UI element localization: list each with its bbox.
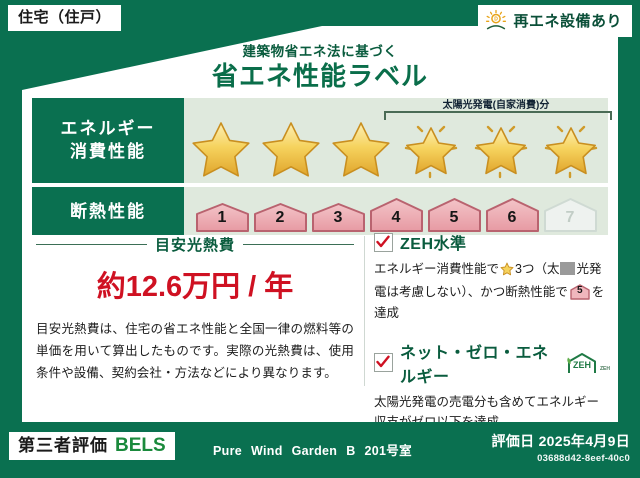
property-word-2: Wind [251,444,283,458]
energy-label-line1: エネルギー [61,118,156,141]
zeh-logo-icon: ZEH ZEH [565,352,610,374]
ratings-section: エネルギー 消費性能 太陽光発電(自家消費)分 [32,98,608,239]
insulation-level-label: 3 [311,209,366,227]
zeh-standard-block: ZEH水準 エネルギー消費性能で3つ（太光発電は考慮しない）、かつ断熱性能で5を… [374,230,610,323]
zeh-text-part2: 3つ（太 [515,262,559,276]
evaluation-id: 03688d42-8eef-40c0 [491,453,630,464]
property-name: PureWindGardenB201号室 [213,440,412,459]
netzero-title: ネット・ゼロ・エネルギー [400,339,553,387]
checkmark-icon [374,233,393,252]
criteria-section: ZEH水準 エネルギー消費性能で3つ（太光発電は考慮しない）、かつ断熱性能で5を… [374,230,610,432]
checkmark-icon [374,353,393,372]
star-filled-solar [467,117,535,179]
energy-stars-area: 太陽光発電(自家消費)分 [184,98,608,183]
zeh-text-part1: エネルギー消費性能で [374,262,499,276]
netzero-header: ネット・ゼロ・エネルギー ZEH ZEH [374,339,610,387]
insulation-level-6: 6 [485,197,540,232]
zeh-standard-header: ZEH水準 [374,230,610,254]
cost-description: 目安光熱費は、住宅の省エネ性能と全国一律の燃料等の単価を用いて算出したものです。… [36,319,354,385]
property-building: B [346,444,355,458]
star-filled [257,117,325,179]
cost-heading-label: 目安光熱費 [155,234,235,255]
category-chip: 住宅（住戸） [8,5,121,31]
insulation-level-label: 5 [427,209,482,227]
sun-solar-icon: D [484,9,508,33]
netzero-block: ネット・ゼロ・エネルギー ZEH ZEH 太陽光発電の売電分も含めてエネルギー [374,339,610,433]
star-filled-solar [397,117,465,179]
redacted-text [560,262,575,275]
star-filled-solar [537,117,605,179]
details-section: 目安光熱費 約12.6万円 / 年 目安光熱費は、住宅の省エネ性能と全国一律の燃… [22,230,618,422]
solar-annotation-text: 太陽光発電(自家消費)分 [382,96,610,111]
label-root: 住宅（住戸） D 再エネ設備あり 建築物省エ [0,0,640,478]
insulation-level-label: 2 [253,209,308,227]
cost-value: 約12.6万円 / 年 [36,263,354,305]
insulation-level-4: 4 [369,197,424,232]
insulation-level-3: 3 [311,202,366,232]
footer-bar: 第三者評価 BELS PureWindGardenB201号室 評価日 2025… [0,426,640,478]
bels-logo-text: BELS [115,436,166,455]
property-room: 201号室 [365,444,412,458]
zeh-standard-title: ZEH水準 [400,230,467,254]
energy-performance-row: エネルギー 消費性能 太陽光発電(自家消費)分 [32,98,608,183]
cost-heading: 目安光熱費 [36,234,354,255]
bels-japanese-label: 第三者評価 [18,437,108,454]
inline-insulation-badge: 5 [570,284,590,300]
insulation-performance-label: 断熱性能 [32,187,184,235]
renewable-label: 再エネ設備あり [513,14,622,29]
star-filled [187,117,255,179]
insulation-scale-area: 1 2 [184,187,608,235]
zeh-standard-body: エネルギー消費性能で3つ（太光発電は考慮しない）、かつ断熱性能で5を達成 [374,259,610,323]
zeh-logo-subtext: ZEH [600,366,610,374]
bels-badge: 第三者評価 BELS [9,432,175,460]
insulation-level-label: 1 [195,209,250,227]
page-title: 省エネ性能ラベル [22,56,618,93]
rule-right [243,244,354,245]
label-panel: 建築物省エネ法に基づく 省エネ性能ラベル エネルギー 消費性能 太陽光発電(自家… [22,26,618,422]
insulation-level-label: 4 [369,209,424,227]
svg-text:ZEH: ZEH [573,360,591,370]
inline-badge-number: 5 [570,283,590,299]
svg-text:D: D [495,17,499,23]
star-rating [184,117,608,179]
renewable-badge: D 再エネ設備あり [478,5,632,37]
insulation-level-label: 6 [485,209,540,227]
rule-left [36,244,147,245]
insulation-level-5: 5 [427,197,482,232]
inline-star-icon [500,262,514,282]
insulation-level-1: 1 [195,202,250,232]
energy-label-line2: 消費性能 [70,141,146,164]
evaluation-date: 評価日 2025年4月9日 [491,431,630,451]
energy-performance-label: エネルギー 消費性能 [32,98,184,183]
property-word-3: Garden [292,444,338,458]
insulation-level-2: 2 [253,202,308,232]
cost-section: 目安光熱費 約12.6万円 / 年 目安光熱費は、住宅の省エネ性能と全国一律の燃… [36,230,354,385]
property-word-1: Pure [213,444,242,458]
insulation-level-label: 7 [543,209,598,227]
insulation-scale: 1 2 [184,197,608,232]
vertical-divider [364,236,365,386]
evaluation-info: 評価日 2025年4月9日 03688d42-8eef-40c0 [491,431,630,464]
insulation-performance-row: 断熱性能 1 [32,187,608,235]
star-filled [327,117,395,179]
insulation-level-7: 7 [543,197,598,232]
